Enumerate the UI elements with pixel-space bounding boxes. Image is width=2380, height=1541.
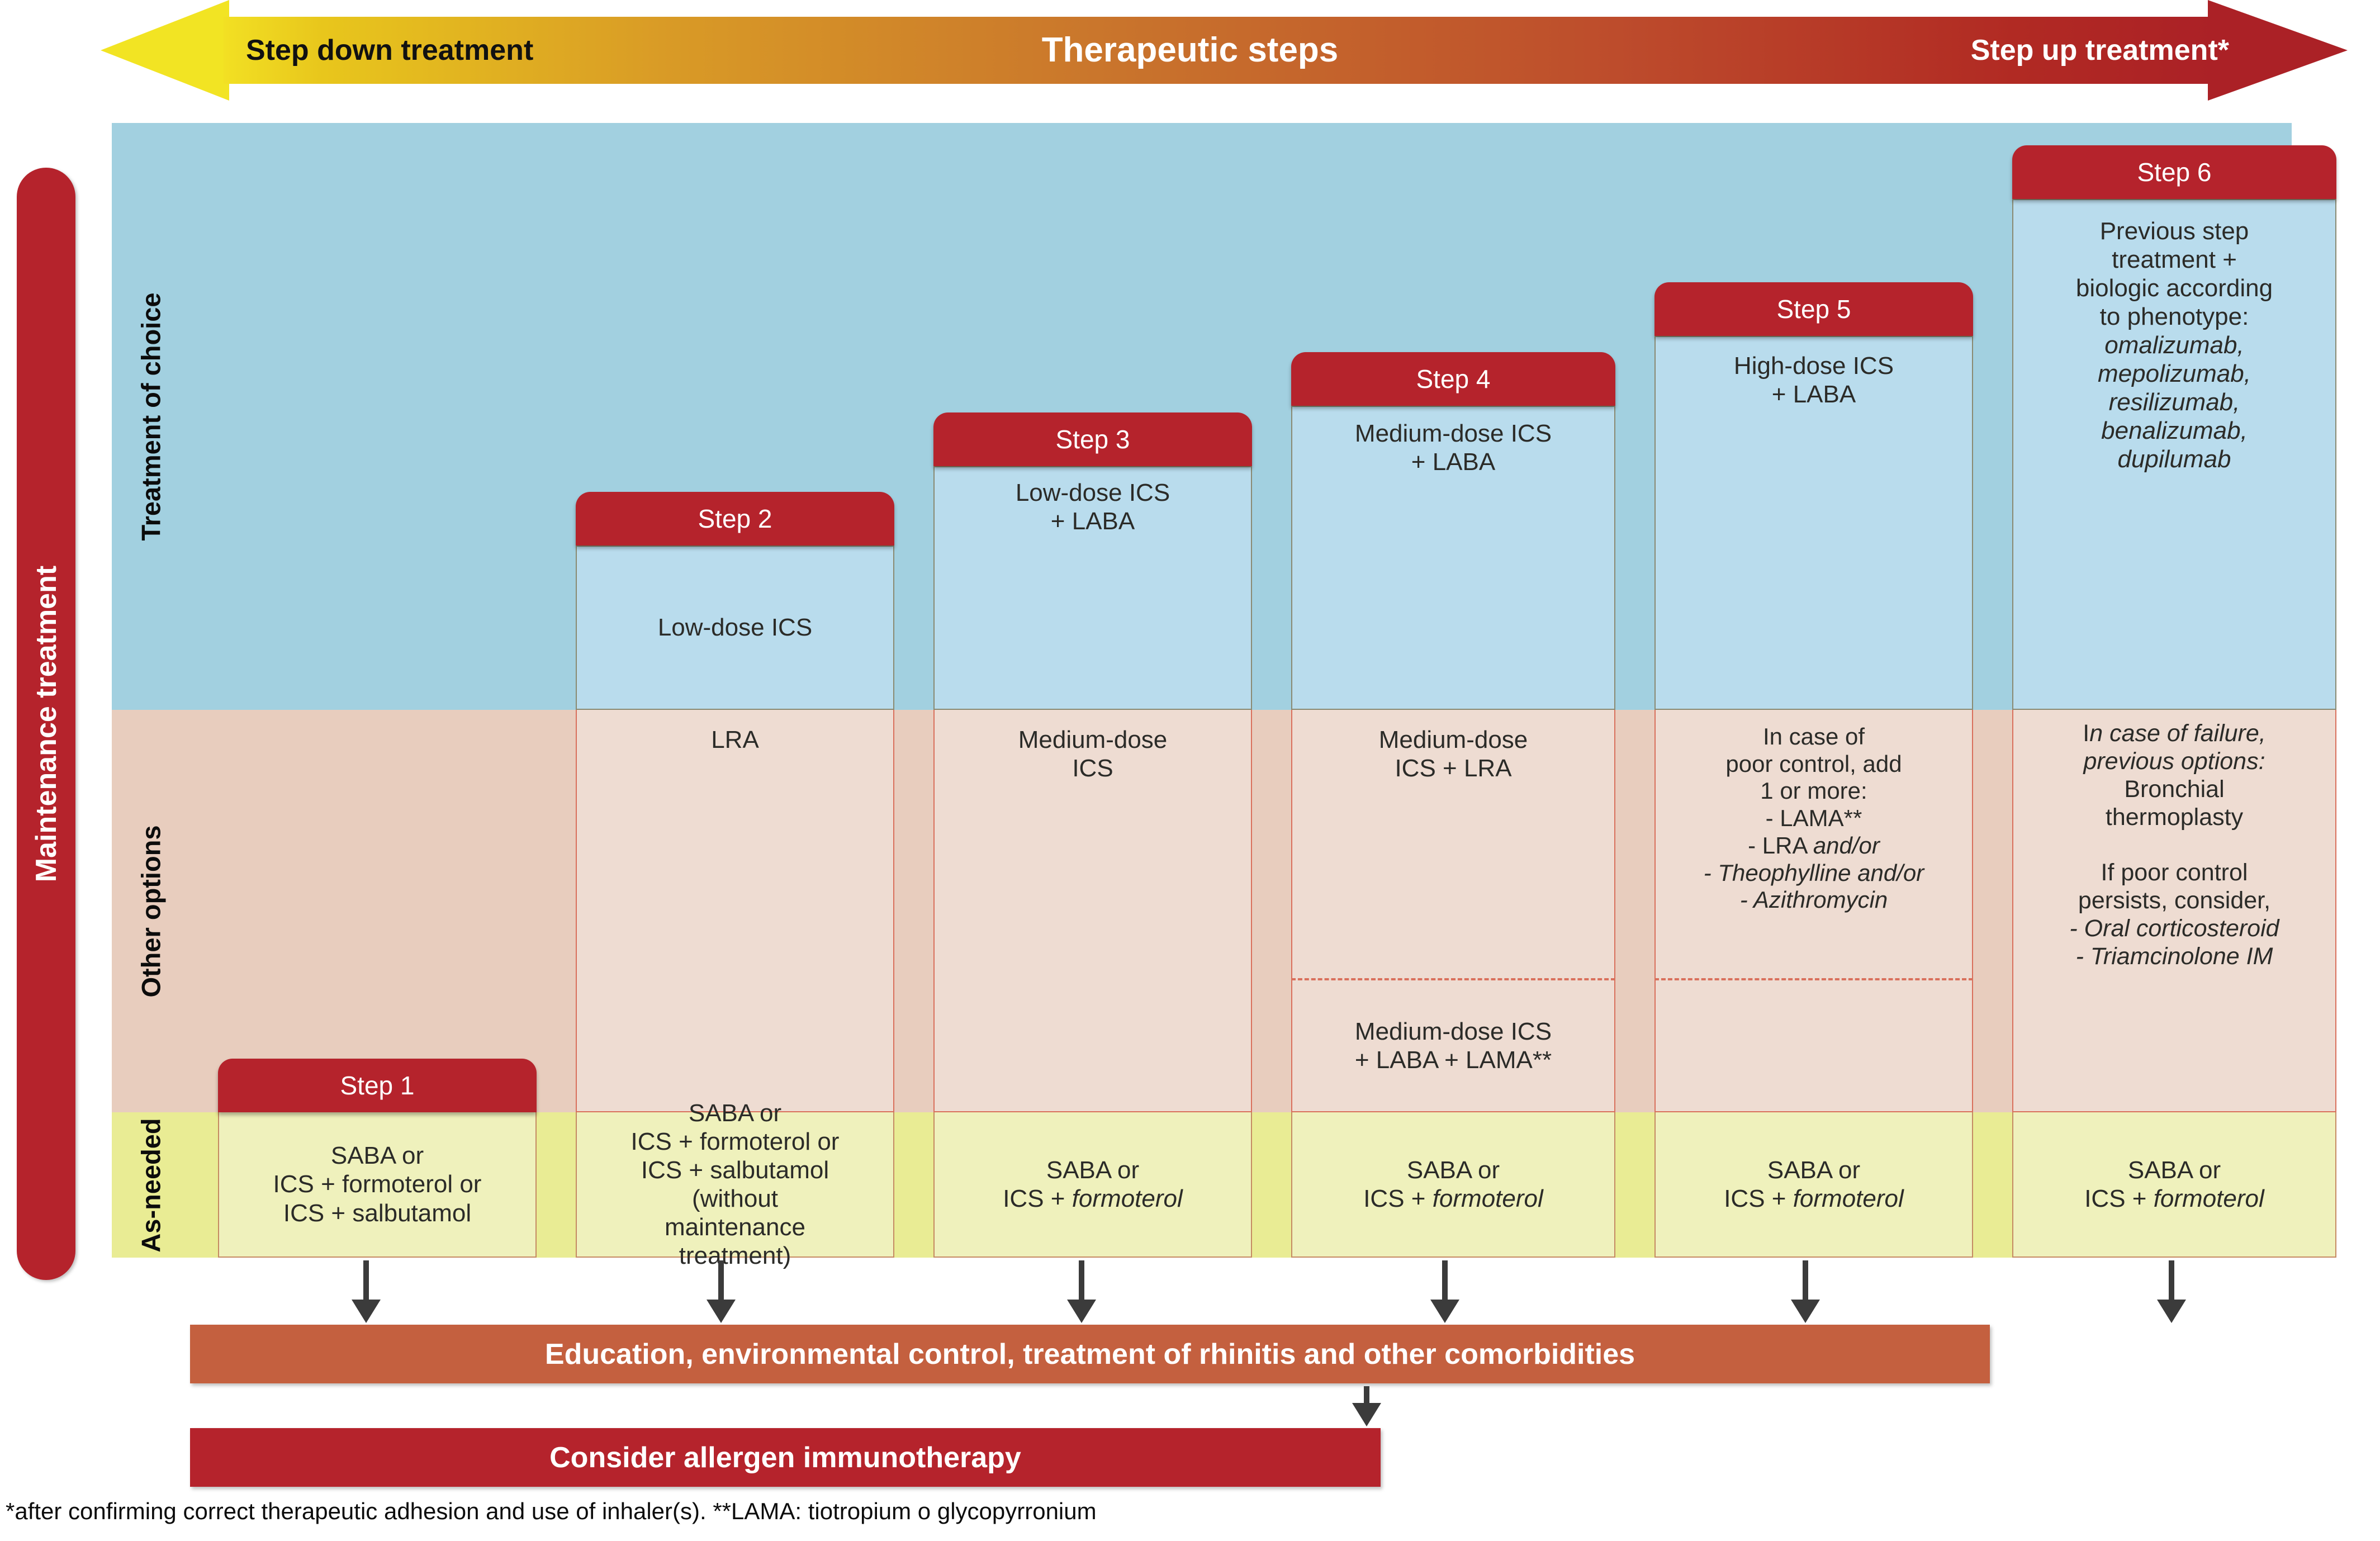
immunotherapy-bar: Consider allergen immunotherapy <box>190 1428 1381 1487</box>
step-5-other-options-extra-cell <box>1654 978 1973 1112</box>
step-column-6[interactable]: Step 6 Previous steptreatment +biologic … <box>2012 123 2336 1258</box>
step-4-other-options-extra-cell: Medium-dose ICS+ LABA + LAMA** <box>1291 978 1615 1112</box>
education-to-immuno-arrow-head <box>1352 1403 1381 1426</box>
step-column-4[interactable]: Step 4 Medium-dose ICS+ LABA Medium-dose… <box>1291 123 1615 1258</box>
education-bar: Education, environmental control, treatm… <box>190 1325 1990 1383</box>
step-2-treatment-of-choice-text: Low-dose ICS <box>582 613 888 642</box>
step-6-as-needed-cell: SABA orICS + formoterol <box>2012 1112 2336 1258</box>
step-5-other-options-text: In case ofpoor control, add1 or more:- L… <box>1661 723 1966 914</box>
row-label-as-needed: As-needed <box>112 1112 190 1258</box>
step-column-1[interactable]: Step 1 SABA orICS + formoterol orICS + s… <box>218 123 537 1258</box>
step-6-other-options-text: In case of failure,previous options:Bron… <box>2019 720 2330 971</box>
down-arrow-5-shaft <box>1803 1260 1808 1305</box>
step-3-as-needed-cell: SABA orICS + formoterol <box>933 1112 1252 1258</box>
step-2-treatment-of-choice-cell: Low-dose ICS <box>576 546 894 710</box>
step-4-as-needed-cell: SABA orICS + formoterol <box>1291 1112 1615 1258</box>
step-4-other-options-extra-text: Medium-dose ICS+ LABA + LAMA** <box>1298 1017 1609 1074</box>
step-2-as-needed-text: SABA orICS + formoterol orICS + salbutam… <box>582 1099 888 1270</box>
maintenance-treatment-bar: Maintenance treatment <box>17 168 75 1280</box>
step-5-as-needed-cell: SABA orICS + formoterol <box>1654 1112 1973 1258</box>
step-5-treatment-of-choice-cell: High-dose ICS+ LABA <box>1654 336 1973 710</box>
down-arrow-6-shaft <box>2169 1260 2174 1305</box>
row-label-text: Treatment of choice <box>136 292 167 540</box>
row-label-other-options: Other options <box>112 710 190 1112</box>
step-3-treatment-of-choice-text: Low-dose ICS+ LABA <box>940 478 1245 535</box>
step-5-treatment-of-choice-text: High-dose ICS+ LABA <box>1661 352 1966 409</box>
step-up-label: Step up treatment* <box>1971 17 2229 84</box>
step-5-other-options-extra-text <box>1661 1031 1966 1060</box>
step-2-other-options-cell: LRA <box>576 710 894 1112</box>
step-6-other-options-cell: In case of failure,previous options:Bron… <box>2012 710 2336 1112</box>
down-arrow-4-shaft <box>1442 1260 1448 1305</box>
row-label-text: Other options <box>136 825 167 997</box>
step-3-other-options-cell: Medium-doseICS <box>933 710 1252 1112</box>
row-label-treatment-of-choice: Treatment of choice <box>112 123 190 710</box>
step-4-other-options-text: Medium-doseICS + LRA <box>1298 726 1609 783</box>
step-3-treatment-of-choice-cell: Low-dose ICS+ LABA <box>933 466 1252 710</box>
down-arrow-1-head <box>352 1300 381 1323</box>
step-column-2[interactable]: Step 2 Low-dose ICS LRA SABA orICS + for… <box>576 123 894 1258</box>
row-label-text: As-needed <box>136 1118 167 1252</box>
step-2-as-needed-cell: SABA orICS + formoterol orICS + salbutam… <box>576 1112 894 1258</box>
step-4-treatment-of-choice-text: Medium-dose ICS+ LABA <box>1298 419 1609 476</box>
step-column-3[interactable]: Step 3 Low-dose ICS+ LABA Medium-doseICS… <box>933 123 1252 1258</box>
step-3-as-needed-text: SABA orICS + formoterol <box>940 1156 1245 1213</box>
down-arrow-6-head <box>2157 1300 2186 1323</box>
step-tab-5[interactable]: Step 5 <box>1654 282 1973 336</box>
footnote-text: *after confirming correct therapeutic ad… <box>6 1498 2353 1525</box>
down-arrow-4-head <box>1430 1300 1459 1323</box>
step-4-other-options-cell: Medium-doseICS + LRA <box>1291 710 1615 978</box>
step-2-other-options-text: LRA <box>582 726 888 754</box>
maintenance-treatment-label: Maintenance treatment <box>30 566 63 882</box>
down-arrow-3-head <box>1067 1300 1096 1323</box>
therapeutic-steps-banner: Step down treatment Therapeutic steps St… <box>0 0 2380 101</box>
step-tab-6[interactable]: Step 6 <box>2012 145 2336 199</box>
step-6-as-needed-text: SABA orICS + formoterol <box>2019 1156 2330 1213</box>
step-tab-2[interactable]: Step 2 <box>576 492 894 546</box>
down-arrow-5-head <box>1791 1300 1820 1323</box>
therapeutic-steps-table: Treatment of choice Other options As-nee… <box>112 123 2292 1258</box>
step-5-as-needed-text: SABA orICS + formoterol <box>1661 1156 1966 1213</box>
step-column-5[interactable]: Step 5 High-dose ICS+ LABA In case ofpoo… <box>1654 123 1973 1258</box>
step-3-other-options-text: Medium-doseICS <box>940 726 1245 783</box>
step-tab-1[interactable]: Step 1 <box>218 1059 537 1112</box>
step-1-as-needed-cell: SABA orICS + formoterol orICS + salbutam… <box>218 1112 537 1258</box>
step-4-treatment-of-choice-cell: Medium-dose ICS+ LABA <box>1291 406 1615 710</box>
down-arrow-3-shaft <box>1079 1260 1084 1305</box>
step-4-as-needed-text: SABA orICS + formoterol <box>1298 1156 1609 1213</box>
step-tab-3[interactable]: Step 3 <box>933 412 1252 466</box>
down-arrow-2-head <box>707 1300 736 1323</box>
down-arrow-1-shaft <box>363 1260 369 1305</box>
education-bar-label: Education, environmental control, treatm… <box>545 1338 1635 1371</box>
step-1-as-needed-text: SABA orICS + formoterol orICS + salbutam… <box>225 1141 530 1227</box>
immunotherapy-bar-label: Consider allergen immunotherapy <box>549 1441 1021 1474</box>
step-5-other-options-cell: In case ofpoor control, add1 or more:- L… <box>1654 710 1973 978</box>
down-arrow-2-shaft <box>718 1260 724 1305</box>
step-tab-4[interactable]: Step 4 <box>1291 352 1615 406</box>
step-6-treatment-of-choice-text: Previous steptreatment +biologic accordi… <box>2019 217 2330 473</box>
step-6-treatment-of-choice-cell: Previous steptreatment +biologic accordi… <box>2012 199 2336 710</box>
